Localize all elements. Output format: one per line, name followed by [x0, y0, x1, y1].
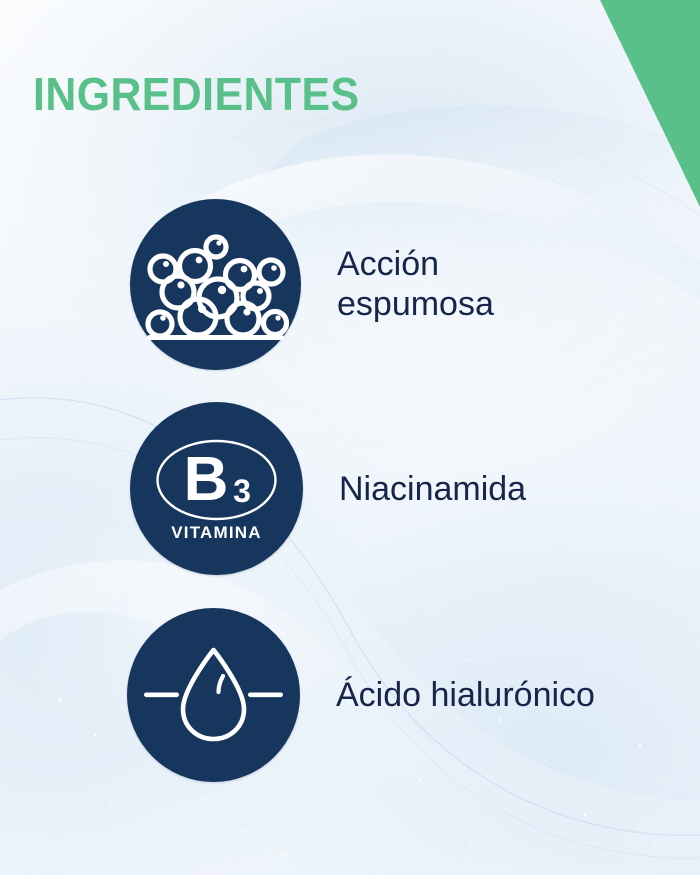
ingredients-infographic: INGREDIENTES: [0, 0, 700, 875]
vitamin-b3-icon: B 3 VITAMINA: [130, 402, 303, 575]
green-triangle-svg: [595, 0, 700, 207]
vitamin-b3-svg: B 3: [130, 402, 303, 575]
ingredient-row-niacinamide: B 3 VITAMINA Niacinamida: [0, 402, 700, 575]
ingredient-label-foam: Acción espumosa: [337, 244, 494, 324]
page-title: INGREDIENTES: [33, 68, 359, 120]
green-corner-decoration: [595, 0, 700, 207]
water-droplet-icon: [127, 608, 300, 782]
ingredient-row-foam: Acción espumosa: [0, 198, 700, 370]
b3-letter: B: [184, 445, 229, 514]
ingredient-label-hyaluronic: Ácido hialurónico: [336, 675, 595, 715]
foam-bubbles-icon: [130, 199, 301, 370]
vitamina-caption: VITAMINA: [130, 523, 303, 543]
ingredient-label-niacinamide: Niacinamida: [339, 469, 526, 509]
water-droplet-svg: [127, 608, 300, 782]
ingredient-row-hyaluronic: Ácido hialurónico: [0, 608, 700, 782]
b3-subscript: 3: [233, 473, 251, 509]
foam-bubbles-svg: [130, 199, 301, 370]
